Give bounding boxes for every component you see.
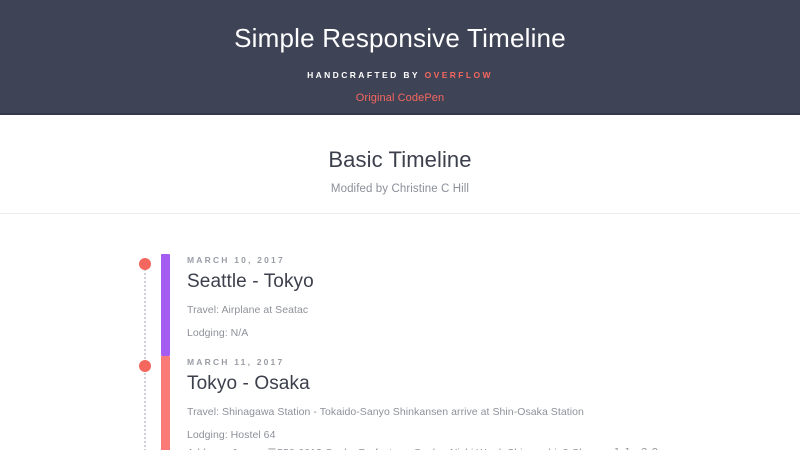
byline-prefix: HANDCRAFTED BY	[307, 70, 420, 80]
timeline-item[interactable]: MARCH 11, 2017 Tokyo - Osaka Travel: Shi…	[140, 356, 800, 450]
timeline-item[interactable]: MARCH 10, 2017 Seattle - Tokyo Travel: A…	[140, 254, 800, 356]
original-codepen-link[interactable]: Original CodePen	[0, 92, 800, 104]
timeline-container: MARCH 10, 2017 Seattle - Tokyo Travel: A…	[0, 214, 800, 450]
timeline-item-travel: Travel: Shinagawa Station - Tokaido-Sany…	[187, 405, 660, 419]
timeline-item-lodging: Lodging: N/A	[187, 326, 314, 340]
timeline-item-title: Tokyo - Osaka	[187, 372, 660, 396]
timeline-bar	[161, 356, 170, 450]
section-title: Basic Timeline	[0, 147, 800, 173]
timeline-item-address: Address: Japan, 〒550-0013 Osaka Prefectu…	[187, 446, 660, 450]
timeline-item-title: Seattle - Tokyo	[187, 270, 314, 294]
timeline: MARCH 10, 2017 Seattle - Tokyo Travel: A…	[140, 254, 800, 450]
site-header: Simple Responsive Timeline HANDCRAFTED B…	[0, 0, 800, 115]
handcrafted-byline: HANDCRAFTED BY OVERFLOW	[0, 70, 800, 80]
timeline-item-travel: Travel: Airplane at Seatac	[187, 303, 314, 317]
byline-brand: OVERFLOW	[425, 70, 493, 80]
timeline-dot-icon	[139, 258, 151, 270]
section-header: Basic Timeline Modifed by Christine C Hi…	[0, 115, 800, 214]
timeline-item-body: MARCH 11, 2017 Tokyo - Osaka Travel: Shi…	[170, 356, 660, 450]
section-subtitle: Modifed by Christine C Hill	[0, 183, 800, 195]
timeline-item-date: MARCH 11, 2017	[187, 357, 660, 367]
timeline-bar	[161, 254, 170, 356]
timeline-dot-icon	[139, 360, 151, 372]
page-title: Simple Responsive Timeline	[0, 22, 800, 55]
timeline-item-date: MARCH 10, 2017	[187, 255, 314, 265]
timeline-item-lodging: Lodging: Hostel 64	[187, 428, 660, 442]
timeline-item-body: MARCH 10, 2017 Seattle - Tokyo Travel: A…	[170, 254, 314, 356]
